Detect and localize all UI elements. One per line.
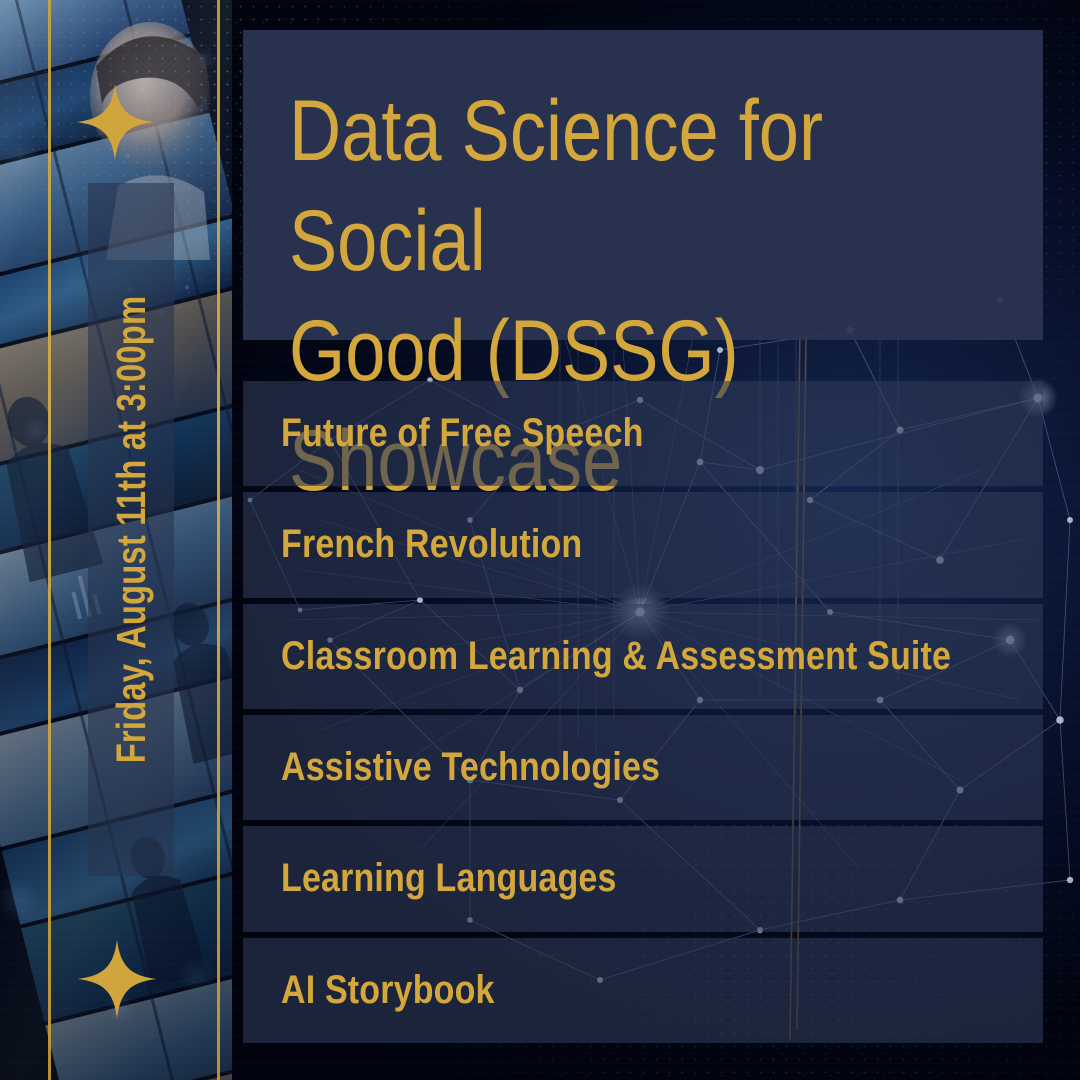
session-row: Assistive Technologies: [243, 715, 1043, 820]
session-row: French Revolution: [243, 492, 1043, 597]
event-date-panel: Friday, August 11th at 3:00pm: [88, 183, 174, 876]
session-row: Classroom Learning & Assessment Suite: [243, 604, 1043, 709]
session-label: Classroom Learning & Assessment Suite: [281, 634, 951, 679]
event-title-panel: Data Science for Social Good (DSSG) Show…: [243, 30, 1043, 340]
session-label: Assistive Technologies: [281, 745, 660, 790]
session-label: AI Storybook: [281, 968, 495, 1013]
session-label: Future of Free Speech: [281, 411, 644, 456]
session-row: Learning Languages: [243, 826, 1043, 931]
sparkle-icon-bottom: [76, 938, 158, 1020]
sparkle-icon-top: [75, 82, 155, 162]
vertical-gold-rule-left: [48, 0, 51, 1080]
vertical-gold-rule-right: [217, 0, 220, 1080]
session-label: Learning Languages: [281, 856, 617, 901]
session-row: AI Storybook: [243, 938, 1043, 1043]
session-list: Future of Free Speech French Revolution …: [243, 381, 1043, 1043]
poster-canvas: Friday, August 11th at 3:00pm Data Scien…: [0, 0, 1080, 1080]
session-label: French Revolution: [281, 522, 582, 567]
session-row: Future of Free Speech: [243, 381, 1043, 486]
event-date-text: Friday, August 11th at 3:00pm: [108, 296, 155, 764]
